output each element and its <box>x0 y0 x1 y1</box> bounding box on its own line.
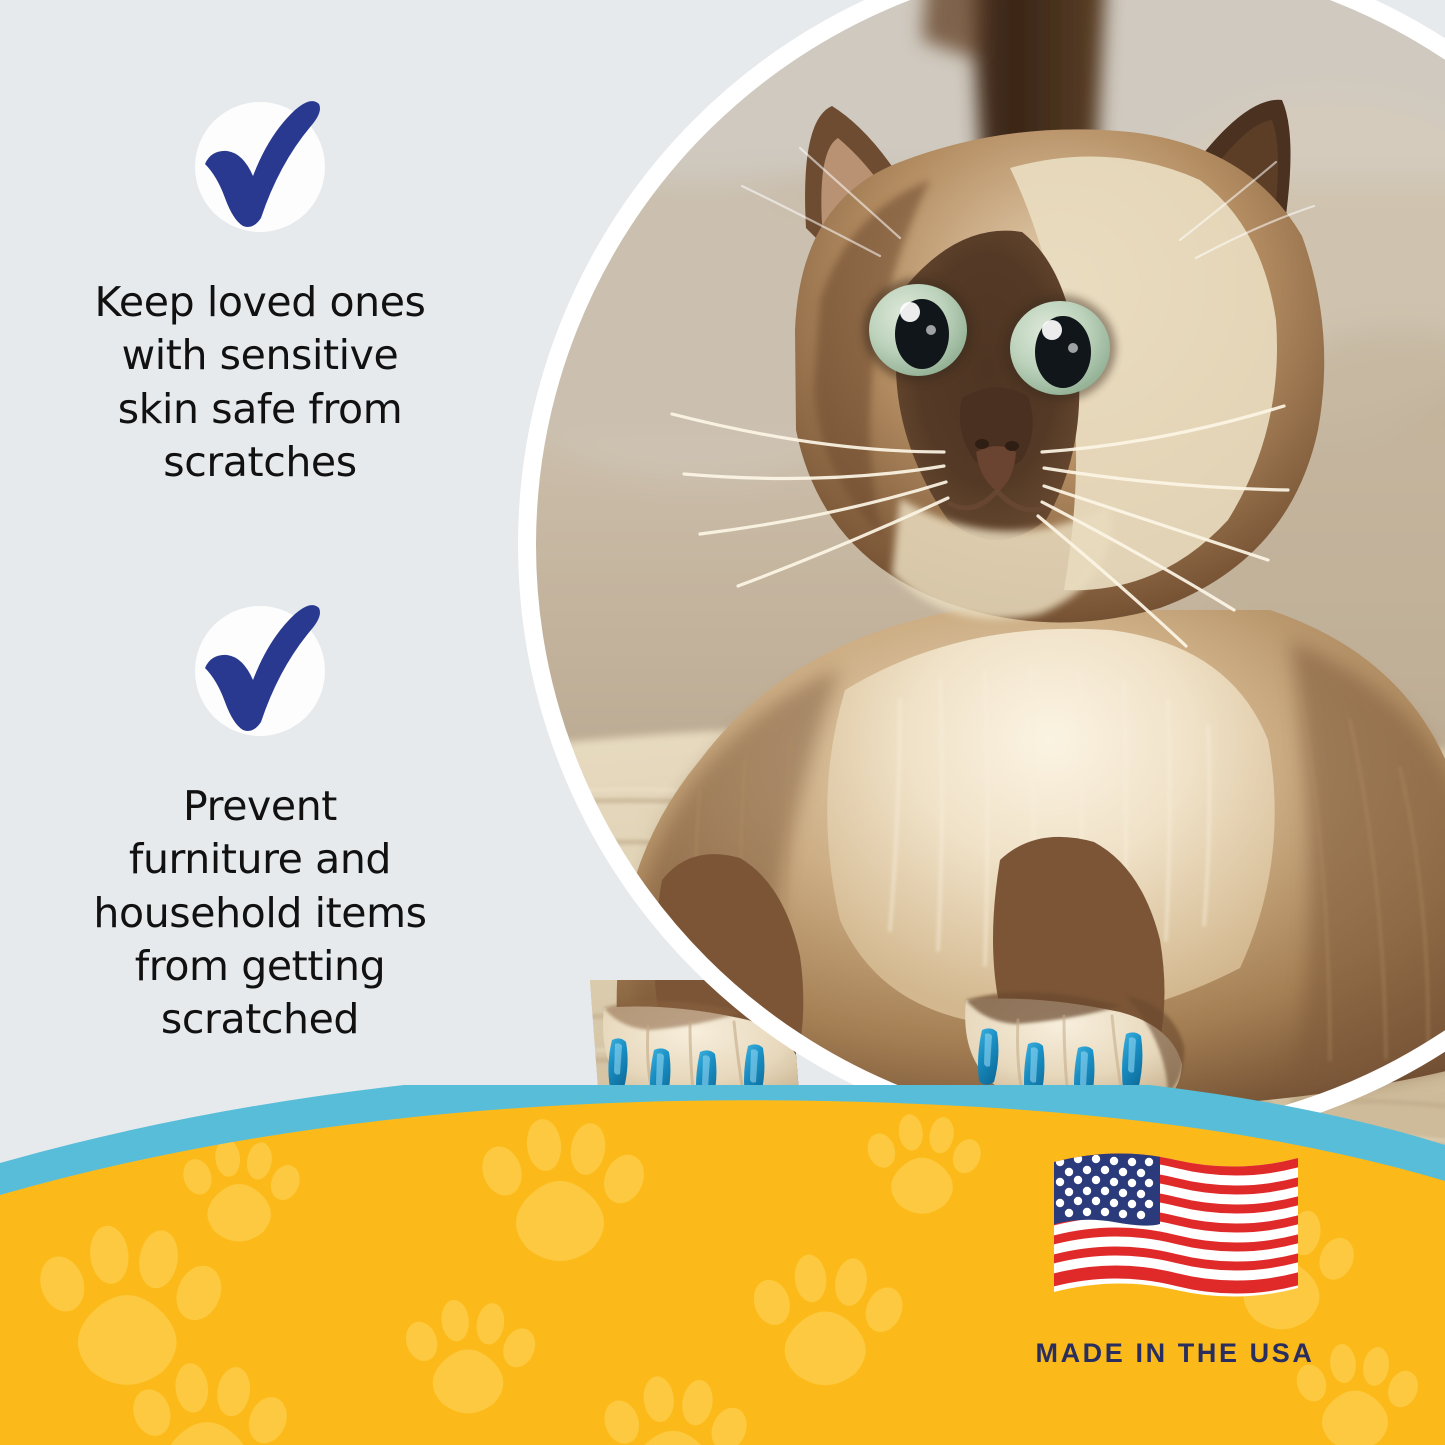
product-feature-card: Keep loved ones with sensitive skin safe… <box>0 0 1445 1445</box>
check-icon <box>187 96 333 242</box>
feature-list: Keep loved ones with sensitive skin safe… <box>0 0 520 1160</box>
made-in-usa-label: MADE IN THE USA <box>1010 1338 1340 1369</box>
feature-item: Prevent furniture and household items fr… <box>0 600 520 1046</box>
feature-item: Keep loved ones with sensitive skin safe… <box>0 96 520 489</box>
feature-text: Prevent furniture and household items fr… <box>0 780 520 1046</box>
feature-text: Keep loved ones with sensitive skin safe… <box>0 276 520 489</box>
check-icon <box>187 600 333 746</box>
usa-flag-icon <box>1048 1148 1303 1320</box>
made-in-usa-badge: MADE IN THE USA <box>1010 1148 1340 1369</box>
